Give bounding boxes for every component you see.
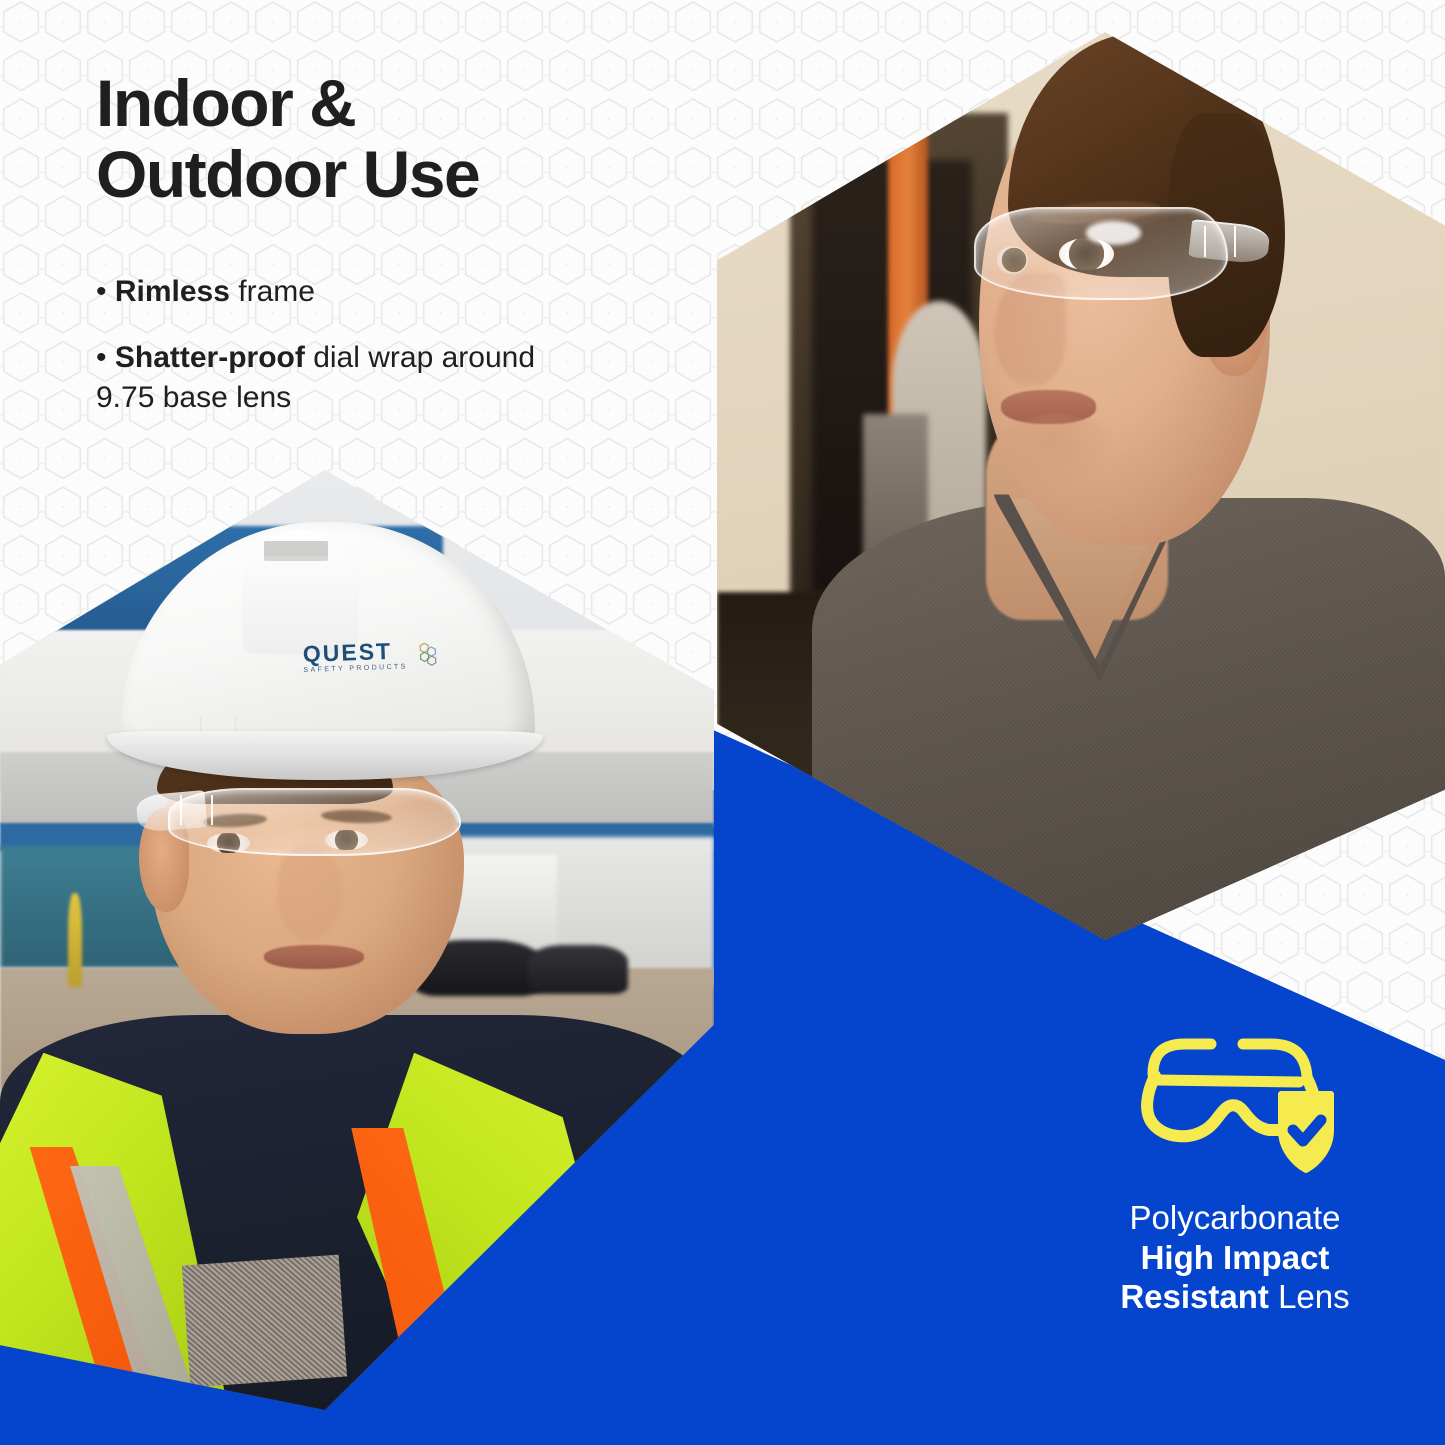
- safety-goggles-shield-check-icon: [1131, 1030, 1339, 1180]
- chin: [994, 414, 1118, 489]
- product-feature-infographic: QUEST SAFETY PRODUCTS Indoor & Outdoor U…: [0, 0, 1445, 1445]
- polycarbonate-lens-callout: Polycarbonate High Impact Resistant Lens: [1075, 1030, 1395, 1317]
- feature-line-3: Resistant Lens: [1075, 1277, 1395, 1317]
- feature-bullet-list: • Rimless frame • Shatter-proof dial wra…: [96, 272, 566, 444]
- headline: Indoor & Outdoor Use: [96, 68, 716, 211]
- vest-mesh-panel: [182, 1254, 347, 1387]
- clear-safety-glasses: [968, 207, 1252, 296]
- bullet-bold-text: Shatter-proof: [115, 341, 305, 374]
- feature-caption: Polycarbonate High Impact Resistant Lens: [1075, 1198, 1395, 1317]
- bullet-item: • Shatter-proof dial wrap around 9.75 ba…: [96, 338, 566, 418]
- bullet-bold-text: Rimless: [115, 275, 230, 308]
- feature-line-3-light: Lens: [1269, 1278, 1350, 1315]
- feature-line-3-bold: Resistant: [1120, 1278, 1269, 1315]
- bullet-marker: •: [96, 341, 107, 374]
- clear-safety-glasses: [143, 788, 457, 852]
- logo-brand-text: QUEST: [303, 639, 408, 666]
- bullet-item: • Rimless frame: [96, 272, 566, 312]
- bullet-marker: •: [96, 275, 107, 308]
- hexagon-cluster-icon: [411, 641, 438, 668]
- quest-safety-products-logo: QUEST SAFETY PRODUCTS: [302, 622, 475, 689]
- headline-line-1: Indoor &: [96, 68, 716, 139]
- temple-hinge: [180, 795, 212, 824]
- lens-highlight: [1086, 221, 1141, 244]
- bullet-rest-text: frame: [230, 275, 315, 308]
- headline-line-2: Outdoor Use: [96, 139, 716, 210]
- hard-hat-vents: [264, 541, 328, 550]
- temple-hinge: [1204, 226, 1236, 256]
- feature-line-2: High Impact: [1075, 1238, 1395, 1278]
- lips: [264, 945, 364, 969]
- yellow-bollard: [68, 893, 82, 987]
- parked-car-2: [528, 945, 628, 994]
- feature-line-1: Polycarbonate: [1075, 1198, 1395, 1238]
